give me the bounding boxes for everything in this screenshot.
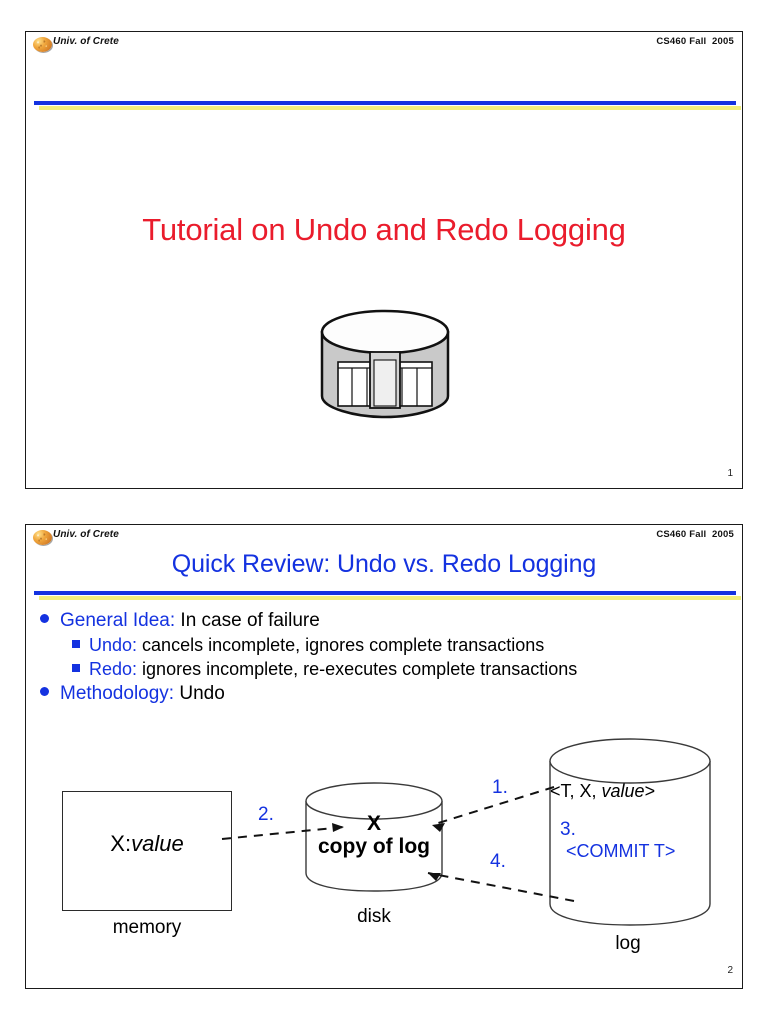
step-number-1: 1.	[492, 777, 508, 799]
list-item: Undo: cancels incomplete, ignores comple…	[26, 635, 742, 656]
page-number: 1	[727, 468, 733, 479]
list-item: Methodology: Undo	[26, 683, 742, 705]
bullet-text: Undo	[174, 683, 225, 705]
slide-1-header: Univ. of Crete CS460 Fall 2005	[26, 32, 742, 54]
course-tag: CS460 Fall 2005	[656, 36, 734, 47]
disk-line-1: X	[304, 813, 444, 835]
log-step-3-number: 3.	[560, 819, 576, 841]
database-cylinder-icon	[310, 304, 460, 429]
university-seal-icon	[33, 37, 52, 52]
header-rule-yellow	[39, 596, 741, 600]
university-seal-icon	[33, 530, 52, 545]
slide-1: Univ. of Crete CS460 Fall 2005 Tutorial …	[25, 31, 743, 489]
bullet-keyword: General Idea:	[60, 610, 175, 632]
page-title: Tutorial on Undo and Redo Logging	[26, 212, 742, 248]
bullet-text: In case of failure	[175, 610, 320, 632]
step-number-4: 4.	[490, 851, 506, 873]
disk-caption: disk	[304, 906, 444, 928]
disk-content-label: X copy of log	[304, 813, 444, 859]
university-name: Univ. of Crete	[53, 529, 119, 540]
course-tag: CS460 Fall 2005	[656, 529, 734, 540]
bullet-text: cancels incomplete, ignores complete tra…	[137, 635, 544, 656]
header-rule-yellow	[39, 106, 741, 110]
log-record-label: <T, X, value>	[550, 781, 720, 802]
header-rule-blue	[34, 101, 736, 105]
bullet-keyword: Undo:	[89, 635, 137, 656]
undo-logging-diagram: X:value memory	[26, 721, 743, 971]
header-rule-blue	[34, 591, 736, 595]
bullet-keyword: Redo:	[89, 659, 137, 680]
list-item: Redo: ignores incomplete, re-executes co…	[26, 659, 742, 680]
bullet-text: ignores incomplete, re-executes complete…	[137, 659, 577, 680]
step-number-2: 2.	[258, 804, 274, 826]
log-record-prefix: <T, X,	[550, 781, 602, 801]
page-number: 2	[727, 965, 733, 976]
log-record-italic: value	[602, 781, 645, 801]
round-bullet-icon	[40, 687, 49, 696]
bullet-list: General Idea: In case of failure Undo: c…	[26, 610, 742, 708]
slide-2: Univ. of Crete CS460 Fall 2005 Quick Rev…	[25, 524, 743, 989]
square-bullet-icon	[72, 640, 80, 648]
list-item: General Idea: In case of failure	[26, 610, 742, 632]
square-bullet-icon	[72, 664, 80, 672]
bullet-keyword: Methodology:	[60, 683, 174, 705]
slide-2-header: Univ. of Crete CS460 Fall 2005	[26, 525, 742, 547]
disk-line-2: copy of log	[304, 835, 444, 859]
log-caption: log	[538, 933, 718, 955]
page-title: Quick Review: Undo vs. Redo Logging	[26, 550, 742, 579]
slides-page: Univ. of Crete CS460 Fall 2005 Tutorial …	[0, 0, 768, 1024]
round-bullet-icon	[40, 614, 49, 623]
university-name: Univ. of Crete	[53, 36, 119, 47]
log-record-suffix: >	[645, 781, 656, 801]
log-commit-record: <COMMIT T>	[566, 841, 675, 862]
